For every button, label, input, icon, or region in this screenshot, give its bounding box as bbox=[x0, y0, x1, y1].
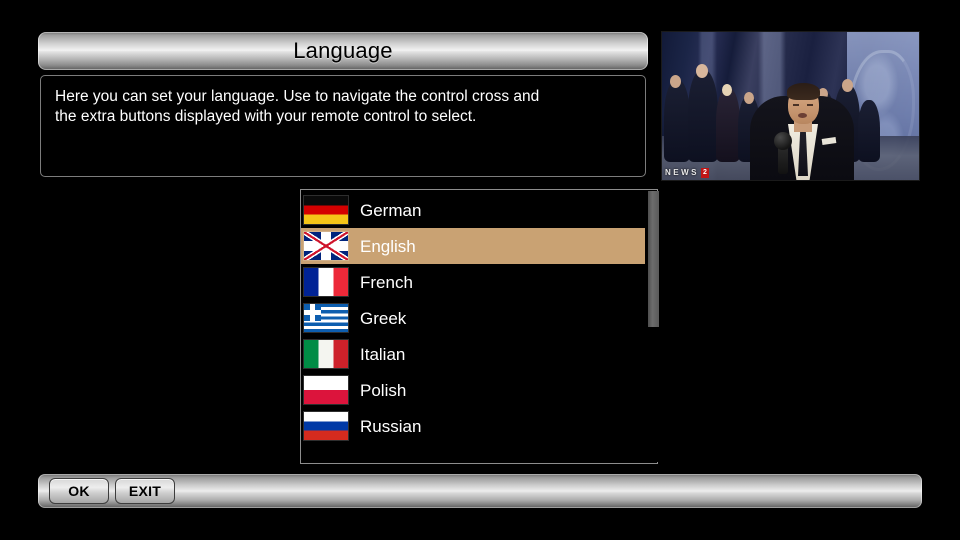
flag-poland-icon bbox=[304, 376, 348, 404]
language-list-item-greek[interactable]: Greek bbox=[301, 300, 645, 336]
language-list-item-label: Greek bbox=[360, 310, 406, 327]
video-crowd-head bbox=[722, 84, 732, 96]
video-reporter-mouth bbox=[798, 113, 807, 118]
language-list-item-italian[interactable]: Italian bbox=[301, 336, 645, 372]
language-list-item-german[interactable]: German bbox=[301, 192, 645, 228]
exit-button[interactable]: EXIT bbox=[115, 478, 175, 504]
channel-logo-badge: 2 bbox=[701, 168, 709, 178]
language-list-item-label: French bbox=[360, 274, 413, 291]
flag-germany-icon bbox=[304, 196, 348, 224]
channel-logo-bug: NEWS 2 bbox=[665, 167, 709, 178]
language-list-item-label: English bbox=[360, 238, 416, 255]
language-list-item-french[interactable]: French bbox=[301, 264, 645, 300]
flag-russia-icon bbox=[304, 412, 348, 440]
language-list-item-label: Polish bbox=[360, 382, 406, 399]
video-crowd-head bbox=[744, 92, 754, 104]
video-crowd-figure bbox=[716, 88, 740, 162]
video-reporter-eye bbox=[807, 104, 813, 106]
bottom-button-bar: OKEXIT bbox=[38, 474, 922, 508]
flag-greece-icon bbox=[304, 304, 348, 332]
video-crowd-figure bbox=[688, 70, 718, 162]
language-list-item-polish[interactable]: Polish bbox=[301, 372, 645, 408]
exit-button-label: EXIT bbox=[129, 483, 161, 499]
microphone-head-icon bbox=[774, 132, 792, 150]
video-preview[interactable]: NEWS 2 bbox=[661, 31, 920, 181]
language-list-item-russian[interactable]: Russian bbox=[301, 408, 645, 444]
language-list-item-label: German bbox=[360, 202, 421, 219]
video-crowd-figure bbox=[664, 80, 690, 162]
title-bar: Language bbox=[38, 32, 648, 70]
language-list-item-label: Italian bbox=[360, 346, 405, 363]
video-crowd-head bbox=[696, 64, 708, 78]
scrollbar-thumb[interactable] bbox=[648, 191, 659, 327]
video-reporter-eye bbox=[793, 104, 799, 106]
channel-logo-text: NEWS bbox=[665, 168, 699, 177]
ok-button[interactable]: OK bbox=[49, 478, 109, 504]
description-text: Here you can set your language. Use to n… bbox=[55, 87, 631, 127]
flag-united-kingdom-icon bbox=[304, 232, 348, 260]
ok-button-label: OK bbox=[68, 483, 90, 499]
description-panel: Here you can set your language. Use to n… bbox=[40, 75, 646, 177]
video-crowd-head bbox=[842, 79, 853, 92]
scrollbar-track[interactable] bbox=[648, 191, 659, 462]
video-crowd-head bbox=[670, 75, 681, 88]
video-crowd-figure bbox=[858, 100, 880, 162]
flag-italy-icon bbox=[304, 340, 348, 368]
flag-france-icon bbox=[304, 268, 348, 296]
language-list-item-label: Russian bbox=[360, 418, 421, 435]
tv-settings-screen: Language Here you can set your language.… bbox=[0, 0, 960, 540]
language-list: GermanEnglishFrenchGreekItalianPolishRus… bbox=[301, 192, 645, 444]
language-list-panel[interactable]: GermanEnglishFrenchGreekItalianPolishRus… bbox=[300, 189, 658, 464]
video-reporter-hair bbox=[787, 83, 820, 100]
language-list-item-english[interactable]: English bbox=[301, 228, 645, 264]
page-title: Language bbox=[293, 38, 392, 64]
